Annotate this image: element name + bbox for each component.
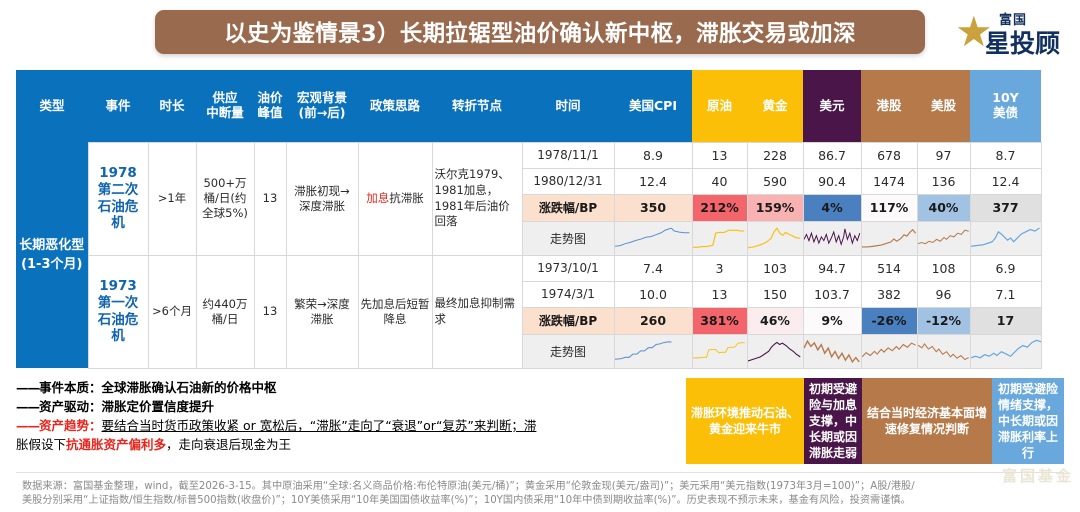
sparkline-hk-1978 xyxy=(861,221,917,255)
sparkline-oil-1978 xyxy=(692,221,747,255)
cell: 103.7 xyxy=(803,281,861,307)
footer-box-usd: 初期受避险与加息支撑，中长期或因滞胀走弱 xyxy=(804,378,862,464)
page-title: 以史为鉴情景3）长期拉锯型油价确认新中枢，滞胀交易或加深 xyxy=(224,16,856,48)
date-1973-start: 1973/10/1 xyxy=(522,255,614,281)
footer-box-bond: 初期受避险情绪支撑，中长期或因滞胀利率上行 xyxy=(992,378,1064,464)
sparkline-us-1978 xyxy=(917,221,970,255)
turning-1973: 最终加息抑制需求 xyxy=(432,255,522,368)
cell: 12.4 xyxy=(614,168,692,194)
footnote: 数据来源：富国基金整理，wind，截至2026-3-15。其中原油采用“全球:名… xyxy=(22,480,1067,508)
summary-l4b: ，走向衰退后现金为王 xyxy=(166,437,291,452)
event-cell-1973: 1973第一次石油危机 xyxy=(88,255,148,368)
th-us: 美股 xyxy=(917,70,970,142)
th-time: 时间 xyxy=(522,70,614,142)
comparison-table: 类型 事件 时长 供应 中断量 油价 峰值 宏观背景 (前→后) 政策思路 转折… xyxy=(16,70,1042,369)
cell: 94.7 xyxy=(803,255,861,281)
cell: 8.9 xyxy=(614,142,692,168)
cell: 590 xyxy=(747,168,803,194)
summary-val-2: 滞胀定价置信度提升 xyxy=(102,399,215,414)
change-label-1973: 涨跌幅/BP xyxy=(522,307,614,334)
title-banner: 以史为鉴情景3）长期拉锯型油价确认新中枢，滞胀交易或加深 xyxy=(0,0,1080,64)
event-cell-1978: 1978第二次石油危机 xyxy=(88,142,148,255)
change-cell: 17 xyxy=(970,307,1041,334)
sparkline-hk-1973 xyxy=(861,334,917,368)
summary-val-3: 要结合当时货币政策收紧 or 宽松后，“滞胀”走向了“衰退”or“复苏”来判断；… xyxy=(102,418,537,433)
th-policy: 政策思路 xyxy=(358,70,432,142)
change-cell: 350 xyxy=(614,194,692,221)
change-cell: -12% xyxy=(917,307,970,334)
policy-rest-1973: 先加息后短暂降息 xyxy=(361,297,430,326)
summary-dash-3: —— xyxy=(16,418,39,433)
sparkline-usd-1973 xyxy=(803,334,861,368)
summary-line-4: 胀假设下抗通胀资产偏利多，走向衰退后现金为王 xyxy=(16,435,686,454)
summary-l4a: 胀假设下 xyxy=(16,437,66,452)
policy-1973: 先加息后短暂降息 xyxy=(358,255,432,368)
th-peak-l1: 油价 xyxy=(256,91,284,105)
change-cell: 159% xyxy=(747,194,803,221)
th-bond-l1: 10Y xyxy=(972,91,1039,105)
cell: 90.4 xyxy=(803,168,861,194)
cell: 86.7 xyxy=(803,142,861,168)
th-macro-l2: (前→后) xyxy=(288,106,356,120)
category-line1: 长期恶化型 xyxy=(18,236,86,256)
change-cell: 40% xyxy=(917,194,970,221)
cell: 103 xyxy=(747,255,803,281)
change-cell: 212% xyxy=(692,194,747,221)
turning-1978: 沃尔克1979、1981加息，1981年后油价回落 xyxy=(432,142,522,255)
table-row: 长期恶化型 (1-3个月) 1978第二次石油危机 >1年 500+万桶/日(约… xyxy=(16,142,1041,168)
footnote-line-1: 数据来源：富国基金整理，wind，截至2026-3-15。其中原油采用“全球:名… xyxy=(22,480,1067,494)
change-cell: 377 xyxy=(970,194,1041,221)
footer-box-equity: 结合当时经济基本面增速修复情况判断 xyxy=(862,378,992,464)
policy-red-1978: 加息 xyxy=(366,191,389,205)
th-hk: 港股 xyxy=(861,70,917,142)
summary-key-2: 资产驱动： xyxy=(39,399,102,414)
category-line2: (1-3个月) xyxy=(18,255,86,275)
th-peak-l2: 峰值 xyxy=(256,106,284,120)
change-cell: 4% xyxy=(803,194,861,221)
trend-label-1978: 走势图 xyxy=(522,221,614,255)
duration-1973: >6个月 xyxy=(148,255,196,368)
cell: 8.7 xyxy=(970,142,1041,168)
policy-1978: 加息抗滞胀 xyxy=(358,142,432,255)
supply-1973: 约440万桶/日 xyxy=(196,255,254,368)
infographic-root: 以史为鉴情景3）长期拉锯型油价确认新中枢，滞胀交易或加深 ★ 富国 星投顾 类型… xyxy=(0,0,1080,512)
footer-divider xyxy=(16,472,1064,473)
cell: 1474 xyxy=(861,168,917,194)
watermark: 富国基金 xyxy=(1002,465,1074,486)
change-cell: 9% xyxy=(803,307,861,334)
footnote-line-2: 美股分别采用“上证指数/恒生指数/标普500指数(收盘价)”；10Y美债采用“1… xyxy=(22,494,1067,508)
th-oil: 原油 xyxy=(692,70,747,142)
cell: 136 xyxy=(917,168,970,194)
summary-val-1: 全球滞胀确认石油新的价格中枢 xyxy=(102,380,277,395)
change-cell: 46% xyxy=(747,307,803,334)
th-cpi: 美国CPI xyxy=(614,70,692,142)
peak-1978: 13 xyxy=(254,142,286,255)
summary-key-3: 资产趋势： xyxy=(39,418,102,433)
change-label-1978: 涨跌幅/BP xyxy=(522,194,614,221)
cell: 3 xyxy=(692,255,747,281)
sparkline-gold-1978 xyxy=(747,221,803,255)
th-supply-l2: 中断量 xyxy=(198,106,252,120)
table-row: 1973第一次石油危机 >6个月 约440万桶/日 13 繁荣→深度滞胀 先加息… xyxy=(16,255,1041,281)
change-cell: 117% xyxy=(861,194,917,221)
th-duration: 时长 xyxy=(148,70,196,142)
cell: 678 xyxy=(861,142,917,168)
th-turning: 转折节点 xyxy=(432,70,522,142)
date-1978-start: 1978/11/1 xyxy=(522,142,614,168)
table-header-row: 类型 事件 时长 供应 中断量 油价 峰值 宏观背景 (前→后) 政策思路 转折… xyxy=(16,70,1041,142)
brand-logo: ★ 富国 星投顾 xyxy=(955,5,1073,59)
th-supply-l1: 供应 xyxy=(198,91,252,105)
summary-line-3: ——资产趋势：要结合当时货币政策收紧 or 宽松后，“滞胀”走向了“衰退”or“… xyxy=(16,416,686,435)
summary-dash-1: —— xyxy=(16,380,39,395)
th-peak: 油价 峰值 xyxy=(254,70,286,142)
sparkline-usd-1978 xyxy=(803,221,861,255)
sparkline-gold-1973 xyxy=(747,334,803,368)
th-supply: 供应 中断量 xyxy=(196,70,254,142)
th-bond-l2: 美债 xyxy=(972,106,1039,120)
cell: 10.0 xyxy=(614,281,692,307)
th-gold: 黄金 xyxy=(747,70,803,142)
summary-block: ——事件本质：全球滞胀确认石油新的价格中枢 ——资产驱动：滞胀定价置信度提升 —… xyxy=(16,378,686,464)
sparkline-cpi-1978 xyxy=(614,221,692,255)
sparkline-bond-1978 xyxy=(970,221,1041,255)
macro-1978: 滞胀初现→深度滞胀 xyxy=(286,142,358,255)
cell: 6.9 xyxy=(970,255,1041,281)
cell: 13 xyxy=(692,281,747,307)
change-cell: -26% xyxy=(861,307,917,334)
cell: 12.4 xyxy=(970,168,1041,194)
cell: 97 xyxy=(917,142,970,168)
th-macro-l1: 宏观背景 xyxy=(288,91,356,105)
th-event: 事件 xyxy=(88,70,148,142)
cell: 96 xyxy=(917,281,970,307)
change-cell: 260 xyxy=(614,307,692,334)
summary-line-2: ——资产驱动：滞胀定价置信度提升 xyxy=(16,397,686,416)
cell: 108 xyxy=(917,255,970,281)
th-bond: 10Y 美债 xyxy=(970,70,1041,142)
sparkline-oil-1973 xyxy=(692,334,747,368)
title-pill: 以史为鉴情景3）长期拉锯型油价确认新中枢，滞胀交易或加深 xyxy=(155,10,925,54)
macro-1973: 繁荣→深度滞胀 xyxy=(286,255,358,368)
sparkline-bond-1973 xyxy=(970,334,1041,368)
policy-rest-1978: 抗滞胀 xyxy=(389,191,424,205)
cell: 7.4 xyxy=(614,255,692,281)
supply-1978: 500+万桶/日(约全球5%) xyxy=(196,142,254,255)
trend-label-1973: 走势图 xyxy=(522,334,614,368)
th-usd: 美元 xyxy=(803,70,861,142)
cell: 382 xyxy=(861,281,917,307)
cell: 40 xyxy=(692,168,747,194)
footer-box-commodity: 滞胀环境推动石油、黄金迎来牛市 xyxy=(686,378,804,464)
cell: 7.1 xyxy=(970,281,1041,307)
summary-line-1: ——事件本质：全球滞胀确认石油新的价格中枢 xyxy=(16,378,686,397)
duration-1978: >1年 xyxy=(148,142,196,255)
logo-line2: 星投顾 xyxy=(985,24,1060,60)
cell: 150 xyxy=(747,281,803,307)
sparkline-us-1973 xyxy=(917,334,970,368)
th-macro: 宏观背景 (前→后) xyxy=(286,70,358,142)
summary-l4-red: 抗通胀资产偏利多 xyxy=(66,437,166,452)
change-cell: 381% xyxy=(692,307,747,334)
th-type: 类型 xyxy=(16,70,88,142)
peak-1973: 13 xyxy=(254,255,286,368)
cell: 514 xyxy=(861,255,917,281)
date-1978-end: 1980/12/31 xyxy=(522,168,614,194)
cell: 13 xyxy=(692,142,747,168)
sparkline-cpi-1973 xyxy=(614,334,692,368)
summary-dash-2: —— xyxy=(16,399,39,414)
cell: 228 xyxy=(747,142,803,168)
category-cell: 长期恶化型 (1-3个月) xyxy=(16,142,88,368)
summary-key-1: 事件本质： xyxy=(39,380,102,395)
date-1973-end: 1974/3/1 xyxy=(522,281,614,307)
